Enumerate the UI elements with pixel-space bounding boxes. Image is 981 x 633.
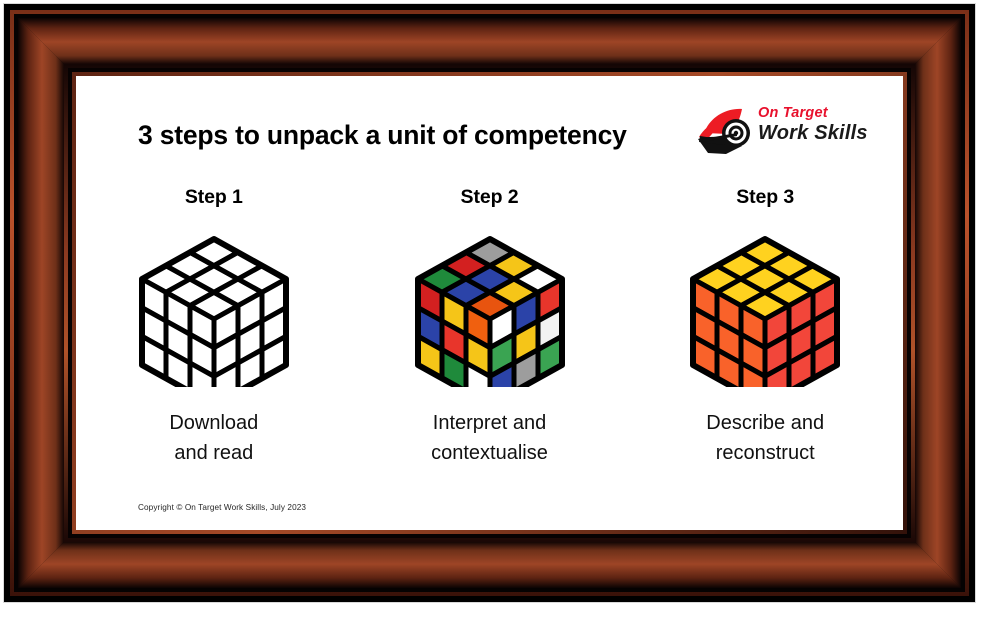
frame-moulding-top: [18, 18, 961, 64]
step-1-heading: Step 1: [185, 186, 243, 209]
brand-logo: On Target Work Skills: [696, 100, 876, 162]
brand-logo-line1: On Target: [758, 105, 828, 121]
blank-cube-icon: [129, 227, 299, 387]
frame-moulding-right: [915, 18, 961, 588]
on-target-mark-icon: [696, 106, 758, 158]
picture-frame: 3 steps to unpack a unit of competency: [4, 4, 975, 602]
step-2-caption-line2: contextualise: [431, 442, 548, 464]
brand-logo-text: On Target Work Skills: [758, 104, 876, 145]
frame-moulding-left: [18, 18, 64, 588]
step-3-caption: Describe and reconstruct: [706, 409, 824, 468]
step-2-caption: Interpret and contextualise: [431, 409, 548, 468]
scrambled-cube-icon: [405, 227, 575, 387]
step-1-caption-line2: and read: [174, 442, 253, 464]
step-column-1: Step 1 Download and read: [76, 186, 352, 468]
step-column-3: Step 3 Describe and reconstruct: [627, 186, 903, 468]
page-title: 3 steps to unpack a unit of competency: [138, 120, 658, 152]
solved-cube-icon: [680, 227, 850, 387]
frame-moulding-bottom: [18, 542, 961, 588]
step-3-heading: Step 3: [736, 186, 794, 209]
brand-logo-line2: Work Skills: [758, 122, 868, 144]
step-2-caption-line1: Interpret and: [433, 412, 546, 434]
copyright-notice: Copyright © On Target Work Skills, July …: [138, 503, 306, 512]
step-1-caption: Download and read: [169, 409, 258, 468]
steps-row: Step 1 Download and read Step 2 Interpre…: [76, 186, 903, 468]
slide-canvas: 3 steps to unpack a unit of competency: [76, 76, 903, 530]
step-column-2: Step 2 Interpret and contextualise: [352, 186, 628, 468]
step-3-caption-line2: reconstruct: [716, 442, 815, 464]
step-1-caption-line1: Download: [169, 412, 258, 434]
step-3-caption-line1: Describe and: [706, 412, 824, 434]
step-2-heading: Step 2: [461, 186, 519, 209]
